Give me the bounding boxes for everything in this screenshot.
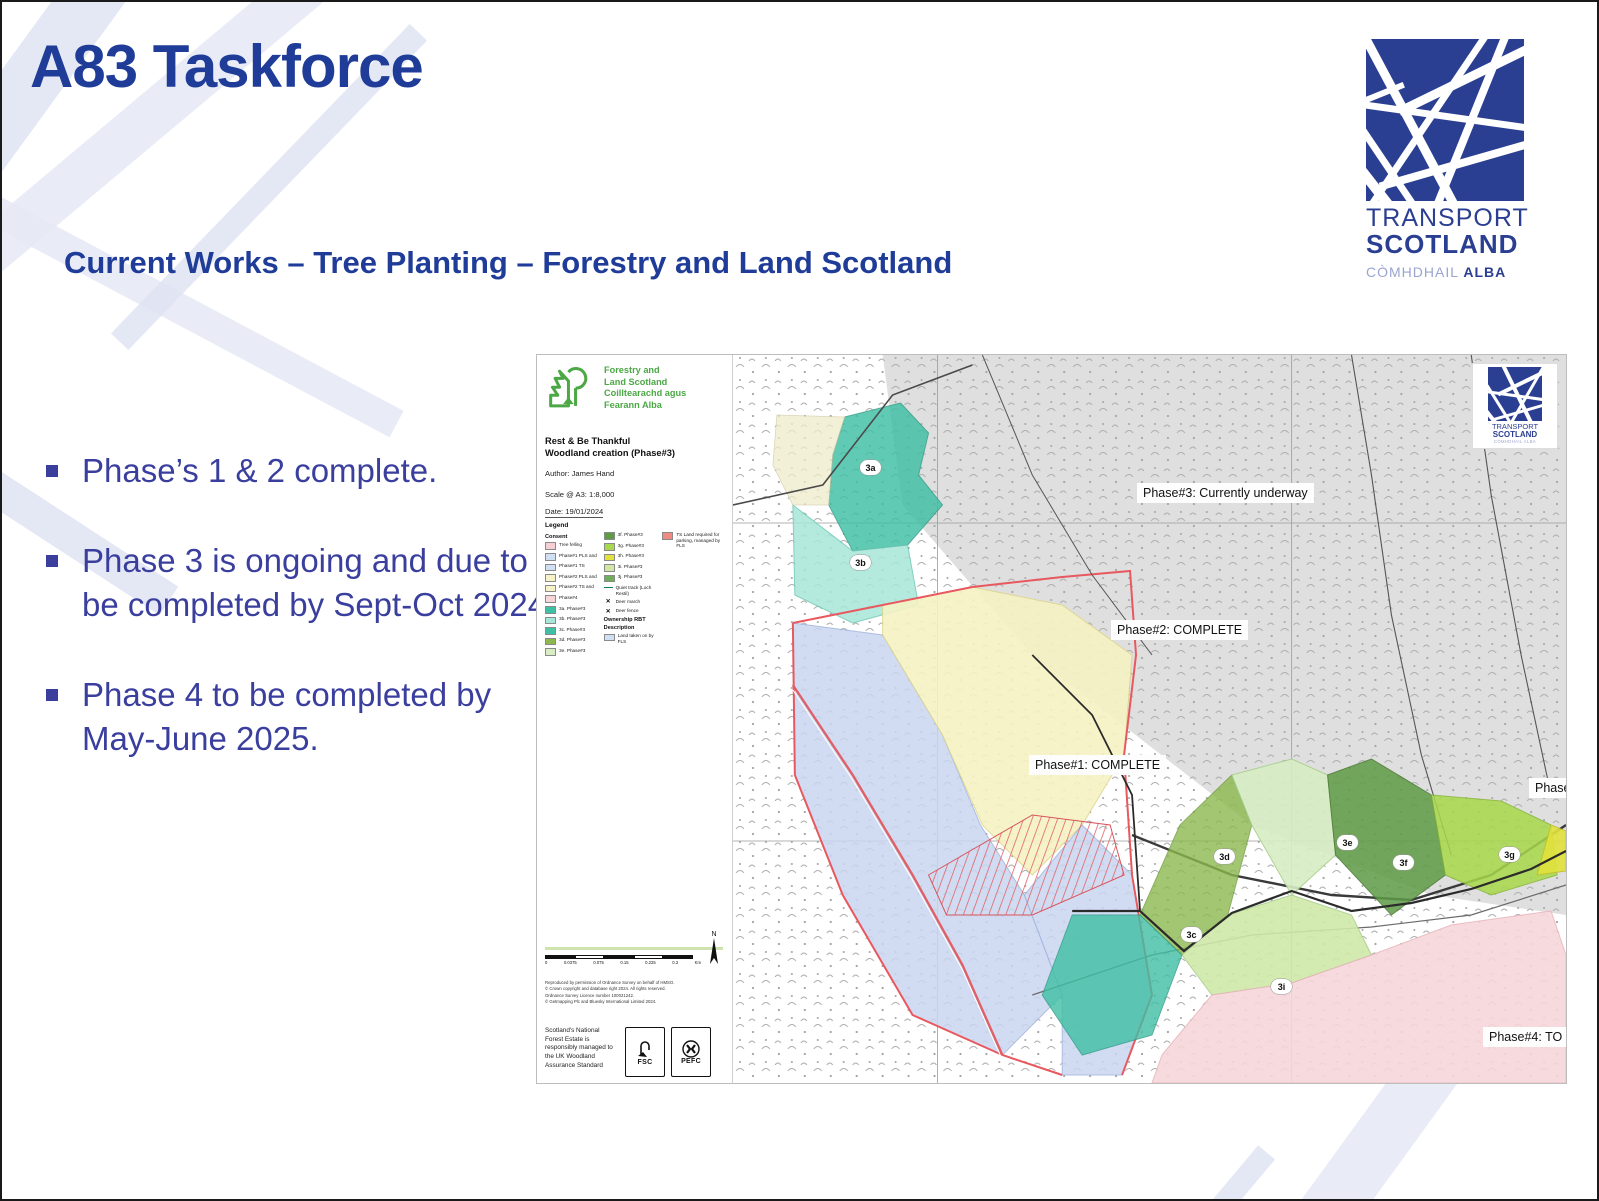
slide-canvas: A83 Taskforce Current Works – Tree Plant… xyxy=(0,0,1599,1201)
page-subtitle: Current Works – Tree Planting – Forestry… xyxy=(64,245,952,281)
legend-group-consent: Consent xyxy=(545,534,599,540)
legend-item: Phase#4 xyxy=(545,595,599,603)
fls-name-gd-2: Fearann Alba xyxy=(604,400,686,412)
fls-branding: Forestry and Land Scotland Coilltearachd… xyxy=(545,365,724,413)
map-label-phase1: Phase#1: COMPLETE xyxy=(1029,755,1166,775)
map-marker-3f[interactable]: 3f xyxy=(1393,855,1414,870)
legend-group: Description xyxy=(604,625,658,631)
legend-label: 3b. Phase#3 xyxy=(559,616,585,622)
legend-item: Phase#2 TS and xyxy=(545,584,599,592)
legend-label: Phase#2 TS and xyxy=(559,584,594,590)
fls-name-gd-1: Coilltearachd agus xyxy=(604,388,686,400)
legend-swatch xyxy=(545,542,556,550)
map-marker-3d[interactable]: 3d xyxy=(1214,849,1235,864)
map-scale: Scale @ A3: 1:8,000 xyxy=(545,489,724,500)
legend-label: 3f. Phase#3 xyxy=(618,532,643,538)
map-scalebar: 00.03750.0750.150.2250.3Km N xyxy=(545,947,723,965)
map-label-phase3-right: Phase#3: Currently underway xyxy=(1529,778,1566,798)
map-author: Author: James Hand xyxy=(545,468,724,479)
scale-tick: 0.0375 xyxy=(564,960,577,965)
fsc-label: FSC xyxy=(638,1059,653,1066)
scale-tick: 0.075 xyxy=(593,960,603,965)
legend-swatch xyxy=(662,532,673,540)
bullet-text: Phase 3 is ongoing and due to be complet… xyxy=(82,539,566,627)
legend-swatch xyxy=(604,554,615,562)
logo-gaelic-light: CÒMHDHAIL xyxy=(1366,264,1463,280)
scale-tick: 0.15 xyxy=(620,960,628,965)
copyright-line: © Getmapping Plc and Bluesky Internation… xyxy=(545,999,725,1005)
map-title: Rest & Be Thankful Woodland creation (Ph… xyxy=(545,435,724,459)
bullet-square-icon xyxy=(46,555,58,567)
map-info-panel: Forestry and Land Scotland Coilltearachd… xyxy=(537,355,733,1083)
map-marker-3g[interactable]: 3g xyxy=(1499,847,1520,862)
fls-name-en-2: Land Scotland xyxy=(604,377,686,389)
list-item: Phase 3 is ongoing and due to be complet… xyxy=(46,539,566,627)
map-ts-mark-icon xyxy=(1488,367,1542,421)
map-title-line1: Rest & Be Thankful xyxy=(545,435,724,447)
legend-label: Phase#2 PLS and xyxy=(559,574,597,580)
legend-items-1: Tree fellingPhase#1 PLS andPhase#1 TSPha… xyxy=(545,542,599,656)
map-ts-gaelic: CÒMHDHAIL ALBA xyxy=(1477,439,1553,444)
legend-swatch xyxy=(545,553,556,561)
decor-ribbon-4 xyxy=(0,167,404,438)
map-marker-3i[interactable]: 3i xyxy=(1271,979,1292,994)
map-figure: Forestry and Land Scotland Coilltearachd… xyxy=(536,354,1567,1084)
legend-item: 3i. Phase#3 xyxy=(604,564,658,572)
list-item: Phase’s 1 & 2 complete. xyxy=(46,449,566,493)
legend-label: 3h. Phase#3 xyxy=(618,553,644,559)
map-marker-3c[interactable]: 3c xyxy=(1181,927,1202,942)
map-transport-scotland-logo: TRANSPORT SCOTLAND CÒMHDHAIL ALBA xyxy=(1472,363,1558,449)
map-title-line2: Woodland creation (Phase#3) xyxy=(545,447,724,459)
legend-point-symbol: ✕ xyxy=(604,609,613,615)
legend-swatch xyxy=(545,648,556,656)
legend: Consent Tree fellingPhase#1 PLS andPhase… xyxy=(545,532,724,659)
legend-column-1: Consent Tree fellingPhase#1 PLS andPhase… xyxy=(545,532,599,659)
legend-label: Tree felling xyxy=(559,542,582,548)
legend-item: 3f. Phase#3 xyxy=(604,532,658,540)
logo-line-scotland: SCOTLAND xyxy=(1366,231,1528,258)
map-graphic xyxy=(733,355,1566,1083)
legend-label: Deer march xyxy=(616,599,641,605)
logo-line-transport: TRANSPORT xyxy=(1366,205,1528,231)
legend-item: 3c. Phase#3 xyxy=(545,627,599,635)
certification-row: Scotland's National Forest Estate is res… xyxy=(545,1027,725,1077)
legend-swatch xyxy=(545,595,556,603)
legend-label: 3d. Phase#3 xyxy=(559,637,585,643)
north-arrow-icon: N xyxy=(709,931,719,969)
fsc-badge-icon: FSC xyxy=(625,1027,665,1077)
legend-line-symbol xyxy=(604,587,613,588)
scale-tick: 0.3 xyxy=(672,960,678,965)
legend-column-3: TS Land required for parking, managed by… xyxy=(662,532,724,659)
north-label: N xyxy=(709,931,719,938)
fls-name: Forestry and Land Scotland Coilltearachd… xyxy=(604,365,686,411)
legend-point-symbol: ✕ xyxy=(604,599,613,605)
fls-name-en-1: Forestry and xyxy=(604,365,686,377)
legend-swatch xyxy=(604,532,615,540)
legend-item: Land taken on by FLS xyxy=(604,633,658,644)
legend-item: ✕Deer march xyxy=(604,599,658,606)
legend-item: 3b. Phase#3 xyxy=(545,616,599,624)
map-canvas[interactable]: TRANSPORT SCOTLAND CÒMHDHAIL ALBA Phase#… xyxy=(733,355,1566,1083)
scalebar-graphic xyxy=(545,955,693,959)
legend-swatch xyxy=(545,638,556,646)
bullet-square-icon xyxy=(46,465,58,477)
page-title: A83 Taskforce xyxy=(30,32,423,101)
legend-items-2: 3f. Phase#33g. Phase#33h. Phase#33i. Pha… xyxy=(604,532,658,645)
legend-item: Quiet track (Loch Restil) xyxy=(604,585,658,596)
legend-label: Phase#1 PLS and xyxy=(559,553,597,559)
map-label-phase3-top: Phase#3: Currently underway xyxy=(1137,483,1314,503)
legend-swatch xyxy=(545,627,556,635)
legend-label: 3e. Phase#3 xyxy=(559,648,585,654)
legend-item: Phase#1 TS xyxy=(545,563,599,571)
legend-swatch xyxy=(604,564,615,572)
legend-item: Phase#1 PLS and xyxy=(545,553,599,561)
legend-item: 3e. Phase#3 xyxy=(545,648,599,656)
map-date: Date: 19/01/2024 xyxy=(545,507,603,518)
legend-label: Land taken on by FLS xyxy=(618,633,658,644)
legend-items-3: TS Land required for parking, managed by… xyxy=(662,532,724,549)
scale-unit: Km xyxy=(695,960,701,965)
legend-item: Phase#2 PLS and xyxy=(545,574,599,582)
legend-item: 3h. Phase#3 xyxy=(604,553,658,561)
legend-swatch xyxy=(545,564,556,572)
legend-swatch xyxy=(604,634,615,642)
bullet-square-icon xyxy=(46,689,58,701)
legend-label: Quiet track (Loch Restil) xyxy=(616,585,658,596)
map-marker-3a[interactable]: 3a xyxy=(860,460,881,475)
legend-swatch xyxy=(604,575,615,583)
pefc-badge-icon: PEFC xyxy=(671,1027,711,1077)
transport-scotland-mark-icon xyxy=(1366,39,1524,201)
legend-label: 3a. Phase#3 xyxy=(559,606,585,612)
pefc-label: PEFC xyxy=(681,1058,701,1065)
legend-label: Deer fence xyxy=(616,608,639,614)
legend-swatch xyxy=(545,606,556,614)
legend-item: ✕Deer fence xyxy=(604,608,658,615)
map-marker-3e[interactable]: 3e xyxy=(1337,835,1358,850)
logo-gaelic: CÒMHDHAIL ALBA xyxy=(1366,264,1528,280)
transport-scotland-logo: TRANSPORT SCOTLAND CÒMHDHAIL ALBA xyxy=(1366,39,1528,280)
scalebar-ticks: 00.03750.0750.150.2250.3Km xyxy=(545,960,701,965)
map-marker-3b[interactable]: 3b xyxy=(850,555,871,570)
legend-column-2: 3f. Phase#33g. Phase#33h. Phase#33i. Pha… xyxy=(604,532,658,659)
legend-label: TS Land required for parking, managed by… xyxy=(676,532,724,549)
scale-tick: 0.225 xyxy=(645,960,655,965)
map-ts-line2: SCOTLAND xyxy=(1477,431,1553,439)
bullet-text: Phase 4 to be completed by May-June 2025… xyxy=(82,673,566,761)
legend-label: 3j. Phase#3 xyxy=(618,574,643,580)
legend-label: 3c. Phase#3 xyxy=(559,627,585,633)
map-label-phase4: Phase#4: TO DO NEXT YEAR 2025 xyxy=(1483,1027,1566,1047)
legend-heading: Legend xyxy=(545,522,724,529)
bullet-text: Phase’s 1 & 2 complete. xyxy=(82,449,437,493)
legend-swatch xyxy=(545,585,556,593)
legend-label: 3i. Phase#3 xyxy=(618,564,643,570)
legend-label: Phase#4 xyxy=(559,595,578,601)
legend-item: TS Land required for parking, managed by… xyxy=(662,532,724,549)
legend-group: Ownership RBT xyxy=(604,617,658,623)
legend-swatch xyxy=(604,543,615,551)
legend-item: 3d. Phase#3 xyxy=(545,637,599,645)
legend-label: Phase#1 TS xyxy=(559,563,585,569)
map-label-phase2: Phase#2: COMPLETE xyxy=(1111,620,1248,640)
list-item: Phase 4 to be completed by May-June 2025… xyxy=(46,673,566,761)
legend-item: 3a. Phase#3 xyxy=(545,606,599,614)
legend-swatch xyxy=(545,617,556,625)
scale-tick: 0 xyxy=(545,960,547,965)
legend-item: 3j. Phase#3 xyxy=(604,574,658,582)
certification-text: Scotland's National Forest Estate is res… xyxy=(545,1027,619,1070)
legend-label: 3g. Phase#3 xyxy=(618,543,644,549)
legend-item: Tree felling xyxy=(545,542,599,550)
legend-item: 3g. Phase#3 xyxy=(604,543,658,551)
panel-divider xyxy=(545,947,723,950)
logo-gaelic-bold: ALBA xyxy=(1463,264,1506,280)
decor-ribbon-7 xyxy=(1091,1145,1275,1201)
bullet-list: Phase’s 1 & 2 complete. Phase 3 is ongoi… xyxy=(46,449,566,806)
legend-swatch xyxy=(545,574,556,582)
map-copyright: Reproduced by permission of Ordnance Sur… xyxy=(545,980,725,1005)
forestry-land-scotland-logo-icon xyxy=(545,365,599,413)
